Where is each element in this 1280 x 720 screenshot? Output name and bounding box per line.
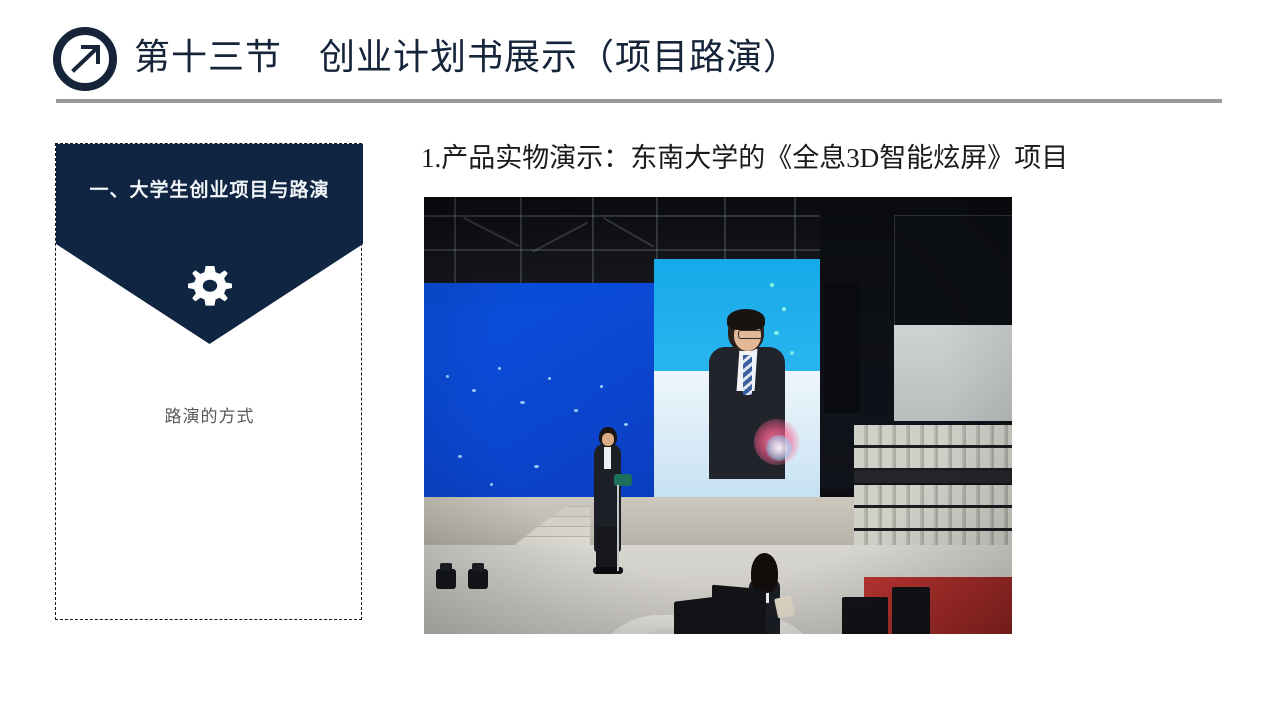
stage-host-hair (751, 553, 778, 593)
floor-speaker (842, 597, 888, 634)
header-divider (56, 99, 1222, 103)
stage-front (424, 497, 854, 549)
screen-speaker-glasses (738, 330, 764, 339)
sidebar-item-roadshow-methods[interactable]: 路演的方式 (56, 402, 363, 427)
right-dark-panel (894, 215, 1012, 329)
stage-light (468, 569, 488, 589)
truss-post (454, 197, 456, 289)
gear-icon (186, 262, 234, 310)
truss-post (656, 197, 658, 261)
stage-cable (617, 485, 619, 571)
stage-presenter-shirt (604, 447, 611, 469)
stage-presenter-face (602, 433, 614, 446)
stage-light (436, 569, 456, 589)
holographic-prop-glow (766, 435, 792, 461)
sidebar-banner[interactable]: 一、大学生创业项目与路演 (56, 144, 363, 344)
stage-monitor-speaker (712, 585, 766, 634)
content-heading: 1.产品实物演示：东南大学的《全息3D智能炫屏》项目 (421, 137, 1068, 179)
stage-presenter-legs (596, 527, 619, 571)
screen-speaker-tie (743, 355, 752, 395)
truss-post (724, 197, 726, 259)
floor-speaker (892, 587, 930, 634)
sidebar: 一、大学生创业项目与路演 路演的方式 (55, 143, 362, 620)
circle-arrow-icon (52, 26, 118, 92)
truss-beam (424, 215, 844, 217)
screen-speaker-hair (727, 309, 765, 330)
stage-side-column (824, 283, 860, 413)
roadshow-photo (424, 197, 1012, 634)
page-title: 第十三节 创业计划书展示（项目路演） (134, 26, 800, 88)
truss-post (794, 197, 796, 259)
slide-header: 第十三节 创业计划书展示（项目路演） (0, 0, 1280, 105)
right-gray-wall (894, 325, 1012, 421)
truss-post (520, 197, 522, 289)
truss-beam (424, 249, 844, 251)
truss-post (592, 197, 594, 289)
sidebar-banner-title: 一、大学生创业项目与路演 (56, 176, 363, 206)
photo-content (424, 197, 1012, 634)
